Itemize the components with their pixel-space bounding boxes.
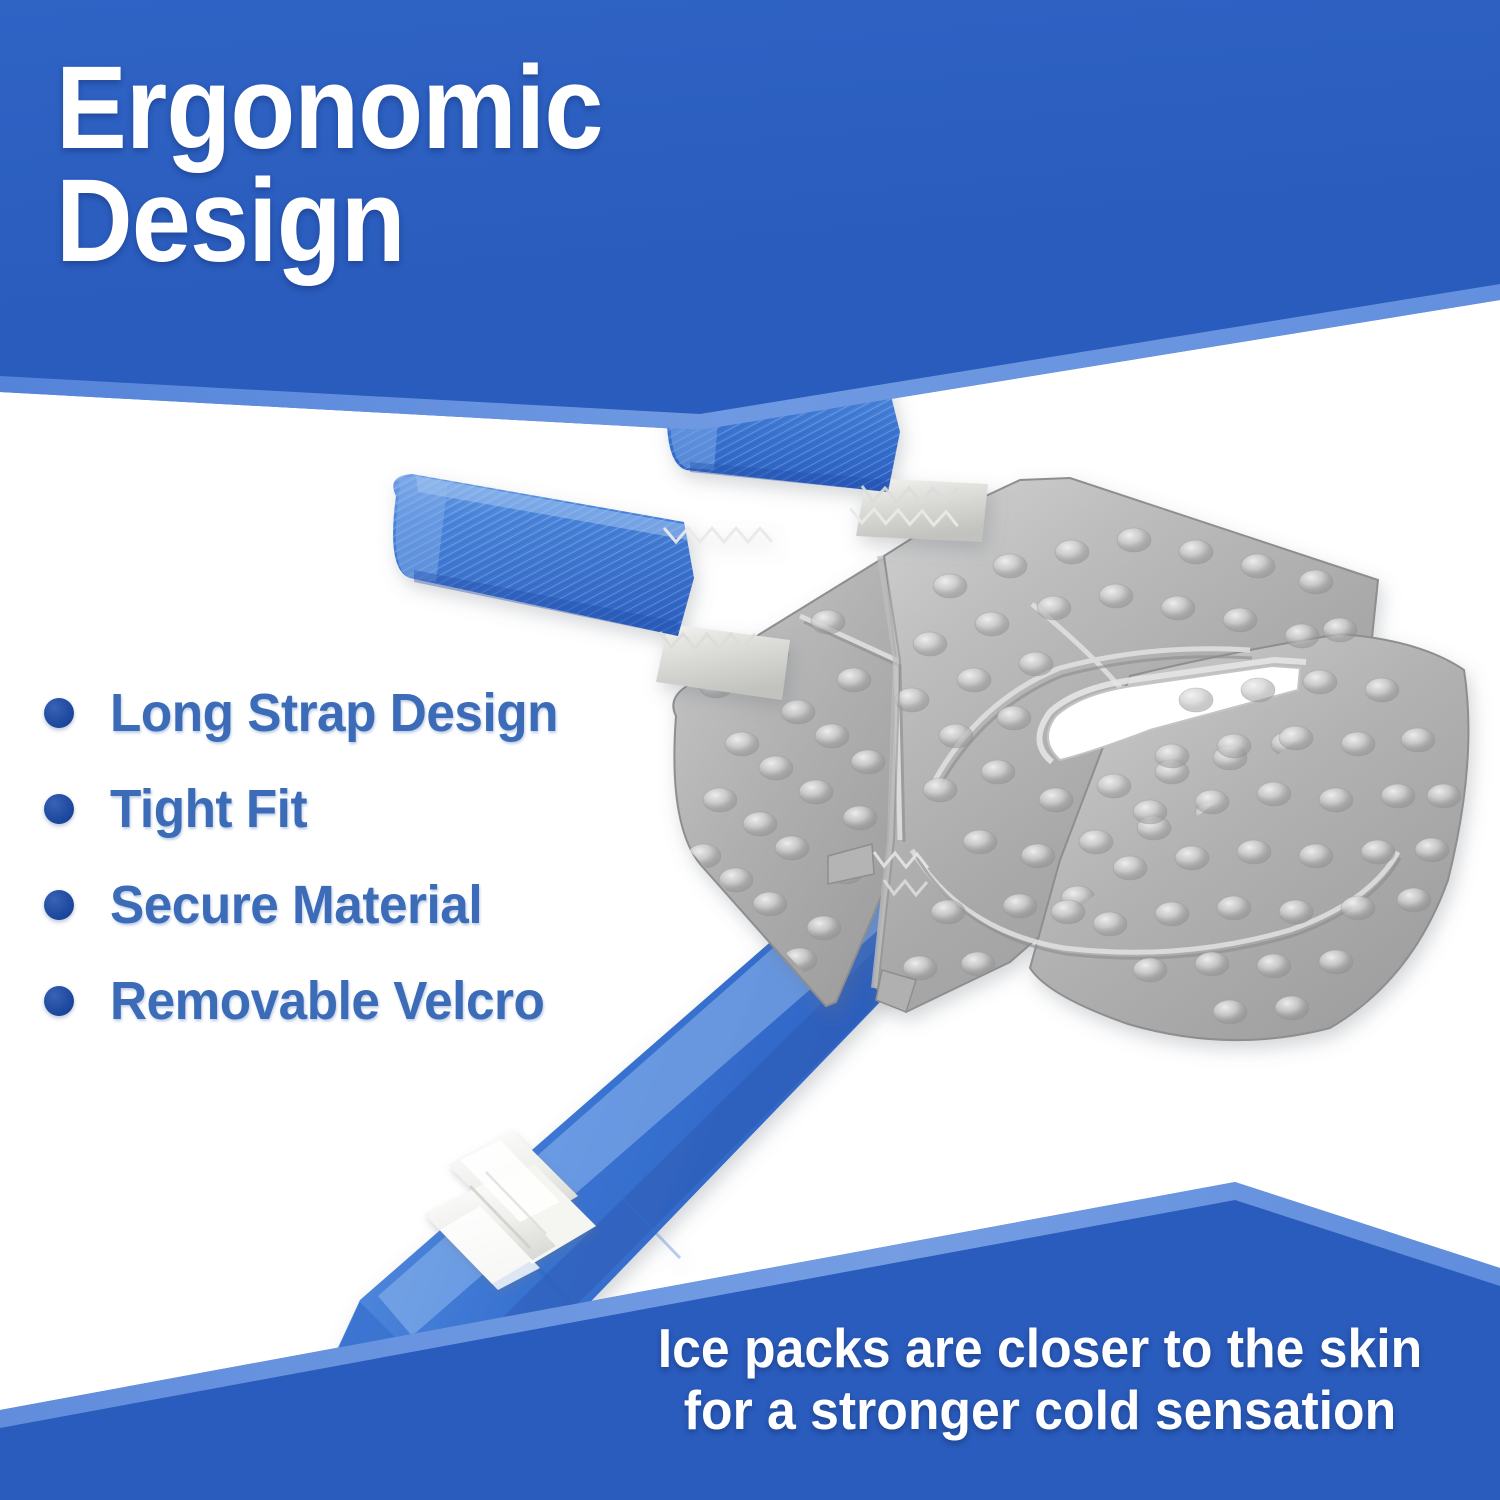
feature-label: Removable Velcro [110,974,544,1028]
gel-pad [673,478,1468,1040]
list-item: Long Strap Design [30,665,670,761]
velcro-band [424,1130,596,1290]
bullet-dot-icon [44,698,74,728]
bullet-dot-icon [44,890,74,920]
list-item: Tight Fit [30,761,670,857]
list-item: Secure Material [30,857,670,953]
list-item: Removable Velcro [30,953,670,1049]
feature-label: Secure Material [110,878,482,932]
bullet-dot-icon [44,986,74,1016]
feature-label: Long Strap Design [110,686,558,740]
feature-list: Long Strap Design Tight Fit Secure Mater… [30,665,670,1049]
caption-text: Ice packs are closer to the skin for a s… [626,1318,1453,1441]
strap-junction [874,852,928,895]
product-marketing-image: Ergonomic Design Long Strap Design Tight… [0,0,1500,1500]
dimple-texture-wing [1051,670,1461,1024]
bullet-dot-icon [44,794,74,824]
center-slot-cutout [1039,660,1306,762]
feature-label: Tight Fit [110,782,307,836]
dimple-texture-top [895,528,1357,980]
dimple-texture-left [687,610,885,972]
page-title: Ergonomic Design [56,52,740,279]
